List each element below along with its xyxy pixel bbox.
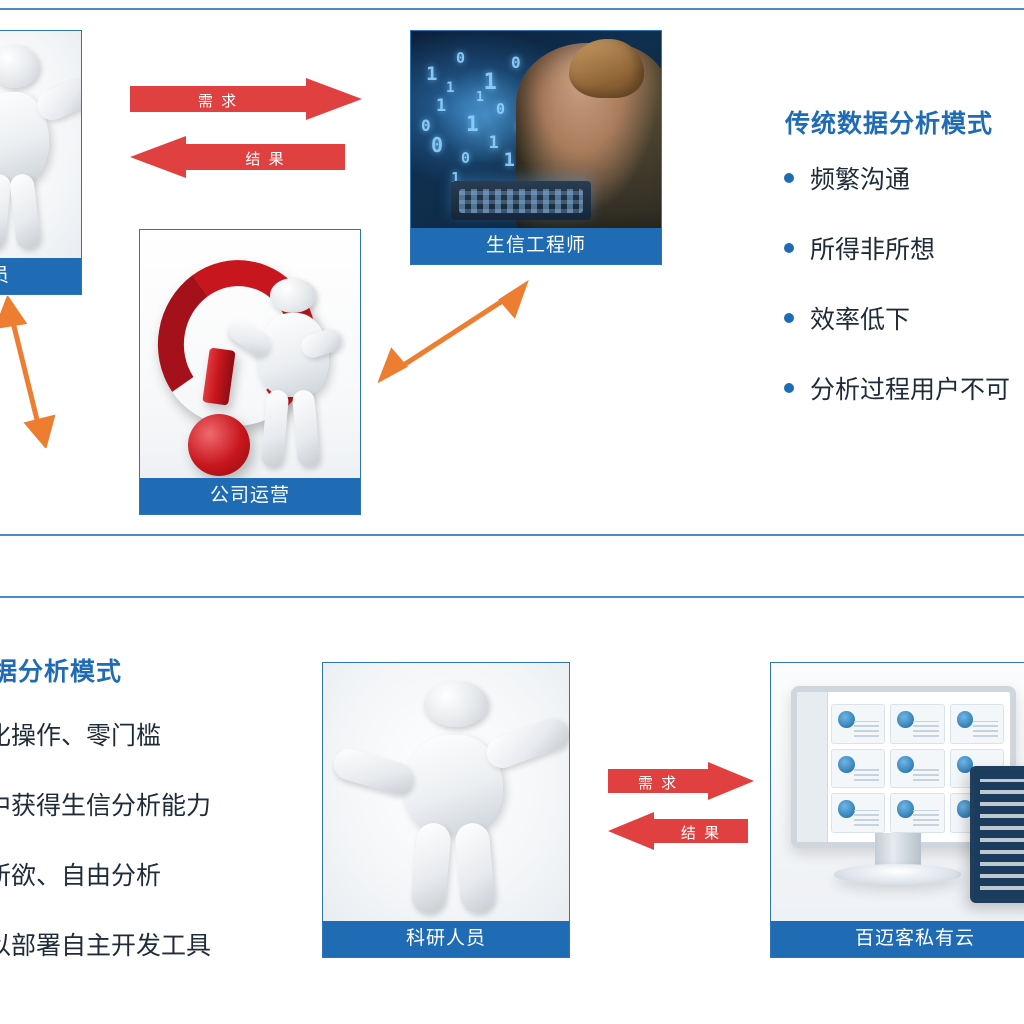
report-card (890, 793, 944, 833)
bullet-item: 化操作、零门槛 (0, 716, 248, 752)
arrow-result-top-label: 结 果 (186, 148, 345, 169)
bullet-item: 效率低下 (780, 300, 1024, 336)
arrow-demand-bottom: 需 求 (608, 762, 754, 800)
engineer-image: 1 0 1 0 1 1 0 1 0 0 1 0 1 1 0 1 0 1 (411, 31, 661, 228)
binary-digit: 1 (476, 90, 484, 105)
binary-digit: 0 (461, 149, 470, 167)
monitor-sidebar (797, 692, 828, 842)
top-section-bullet-list: 频繁沟通 所得非所想 效率低下 分析过程用户不可 (780, 160, 1024, 430)
monitor-cloud-scene (771, 663, 1024, 921)
tablet-content (980, 779, 1024, 890)
report-card (950, 704, 1004, 744)
question-mark-scene (140, 230, 360, 478)
mannequin-figure (0, 31, 81, 258)
arrow-demand-top: 需 求 (130, 78, 362, 120)
binary-digit: 1 (489, 133, 499, 153)
arrow-result-top: 结 果 (130, 136, 345, 178)
bullet-item: 所得非所想 (780, 230, 1024, 266)
mannequin-leg-right (292, 390, 320, 469)
binary-digit: 1 (484, 70, 497, 95)
top-section-title: 传统数据分析模式 (785, 104, 993, 140)
engineer-hair (569, 39, 644, 98)
mannequin-figure (323, 663, 569, 921)
monitor-stand (875, 833, 921, 867)
mannequin-head (0, 45, 39, 88)
divider-middle-upper (0, 534, 1024, 536)
laptop-keyboard (459, 189, 582, 213)
mannequin-head (270, 278, 316, 313)
mannequin-leg-left (261, 390, 289, 469)
binary-digit: 0 (431, 133, 443, 157)
binary-digit: 1 (466, 112, 479, 136)
binary-digit: 1 (446, 80, 454, 96)
divider-middle-lower (0, 596, 1024, 598)
binary-digit: 1 (504, 149, 515, 171)
bottom-section-title: 据分析模式 (0, 652, 122, 688)
private-cloud-image (771, 663, 1024, 921)
bullet-item: 中获得生信分析能力 (0, 786, 248, 822)
arrow-result-bottom-label: 结 果 (654, 822, 748, 843)
company-operations-image (140, 230, 360, 478)
report-card (831, 749, 885, 789)
bottom-section-bullet-list: 化操作、零门槛 中获得生信分析能力 所欲、自由分析 以部署自主开发工具 (0, 716, 248, 990)
report-card (831, 793, 885, 833)
monitor-base (834, 864, 961, 885)
arrow-demand-bottom-label: 需 求 (608, 772, 708, 793)
card-bioinformatics-engineer[interactable]: 1 0 1 0 1 1 0 1 0 0 1 0 1 1 0 1 0 1 (410, 30, 662, 265)
arrow-result-bottom: 结 果 (608, 812, 748, 850)
mannequin-leg-right (454, 822, 496, 915)
bullet-item: 所欲、自由分析 (0, 856, 248, 892)
bullet-item: 分析过程用户不可 (780, 370, 1024, 406)
card-caption: 公司运营 (140, 478, 360, 514)
card-caption: 科研人员 (323, 921, 569, 957)
engineer-laptop (451, 181, 591, 220)
mannequin-arm-right (483, 714, 569, 772)
card-researcher-left[interactable]: 员 (0, 30, 82, 295)
card-caption: 生信工程师 (411, 228, 661, 264)
binary-digit: 1 (426, 63, 437, 85)
arrow-demand-top-label: 需 求 (130, 90, 306, 111)
mannequin-head (424, 681, 488, 727)
card-caption: 百迈客私有云 (771, 921, 1024, 957)
report-card (831, 704, 885, 744)
divider-top (0, 8, 1024, 10)
mannequin-leg-left (410, 822, 452, 915)
slide-canvas: 员 1 0 1 0 1 1 0 1 0 0 1 0 1 1 0 1 (0, 0, 1024, 1024)
card-private-cloud[interactable]: 百迈客私有云 (770, 662, 1024, 958)
card-company-operations[interactable]: 公司运营 (139, 229, 361, 515)
binary-digit: 0 (511, 53, 521, 72)
mannequin-leg-right (9, 173, 41, 250)
card-researcher-bottom[interactable]: 科研人员 (322, 662, 570, 958)
binary-digit: 0 (496, 100, 505, 118)
researcher-bottom-image (323, 663, 569, 921)
mannequin-arm-left (330, 745, 417, 797)
researcher-left-image (0, 31, 81, 258)
report-card (890, 704, 944, 744)
binary-digit: 0 (456, 49, 465, 67)
report-card (890, 749, 944, 789)
arrow-ops-right (378, 278, 530, 388)
thinker-mannequin (215, 270, 360, 478)
engineer-photo: 1 0 1 0 1 1 0 1 0 0 1 0 1 1 0 1 0 1 (411, 31, 661, 228)
binary-digit: 1 (436, 96, 446, 116)
tablet-device (970, 766, 1024, 903)
bullet-item: 以部署自主开发工具 (0, 926, 248, 962)
bullet-item: 频繁沟通 (780, 160, 1024, 196)
binary-digit: 0 (421, 116, 431, 135)
card-caption: 员 (0, 258, 81, 294)
arrow-ops-left (0, 296, 56, 448)
